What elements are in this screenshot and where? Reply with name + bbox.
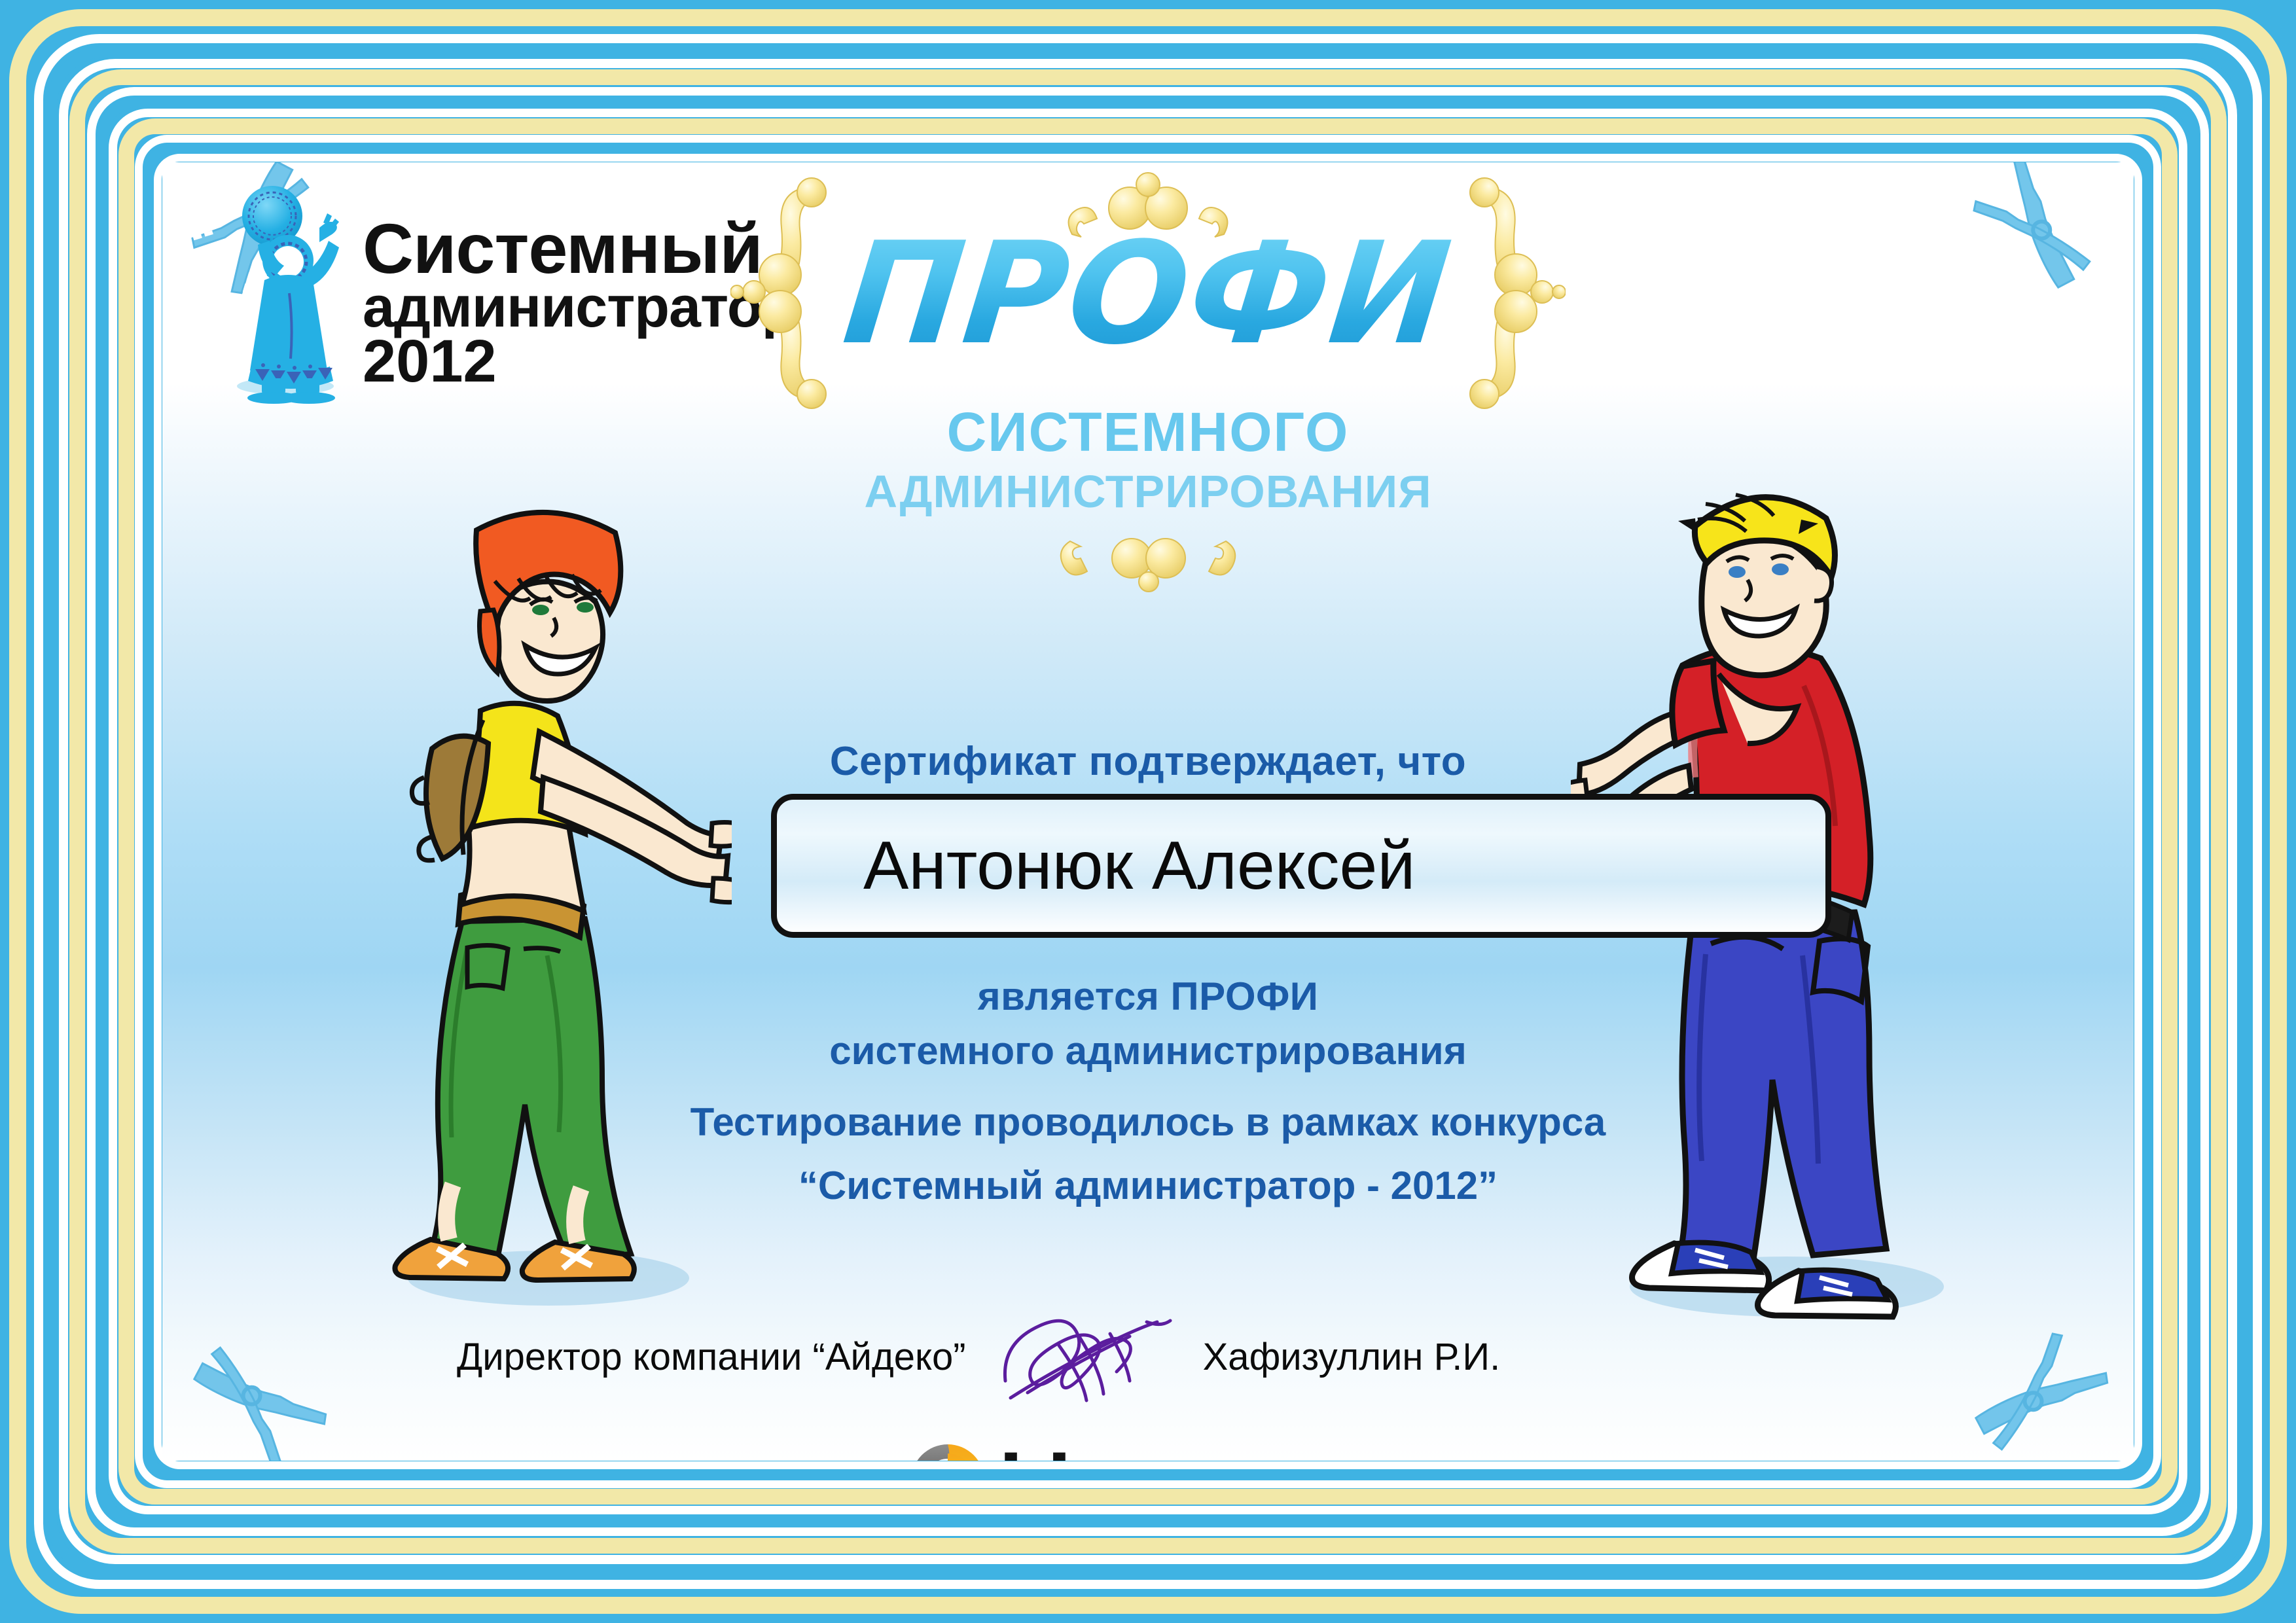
ideco-wordmark: ideco [999, 1441, 1202, 1461]
body-line-3: Тестирование проводилось в рамках конкур… [162, 1099, 2134, 1145]
ornament-right-icon [1467, 175, 1566, 411]
handwritten-signature-icon [988, 1308, 1185, 1406]
confirm-line: Сертификат подтверждает, что [162, 738, 2134, 785]
ornament-bottom-icon [1053, 524, 1243, 593]
title-main: ПРОФИ [821, 223, 1475, 364]
recipient-name: Антонюк Алексей [777, 827, 1415, 905]
signature-row: Директор компании “Айдеко” Хафизуллин Р.… [457, 1314, 1570, 1399]
body-text-block: является ПРОФИ системного администрирова… [162, 974, 2134, 1208]
certificate-body: Системный администратор 2012 [162, 162, 2134, 1461]
recipient-name-panel: Антонюк Алексей [771, 794, 1831, 938]
crimp-tool-icon [174, 1315, 341, 1461]
ideco-ring-icon [906, 1439, 990, 1461]
body-line-4: “Системный администратор - 2012” [162, 1163, 2134, 1208]
organizer-label: Организатор конкурса: [457, 1459, 857, 1461]
organizer-row: Организатор конкурса: [457, 1432, 1439, 1461]
body-line-2: системного администрирования [162, 1028, 2134, 1073]
signer-name: Хафизуллин Р.И. [1203, 1335, 1501, 1379]
profi-title-row: ПРОФИ [730, 175, 1565, 411]
ornament-left-icon [730, 175, 829, 411]
certificate-page: Системный администратор 2012 [0, 0, 2296, 1623]
crimp-tool-icon [1956, 1315, 2123, 1461]
signature-role-label: Директор компании “Айдеко” [457, 1335, 966, 1379]
body-line-1: является ПРОФИ [162, 974, 2134, 1019]
title-sub-2: АДМИНИСТРИРОВАНИЯ [864, 465, 1431, 518]
ideco-logo: ideco [906, 1439, 1202, 1461]
